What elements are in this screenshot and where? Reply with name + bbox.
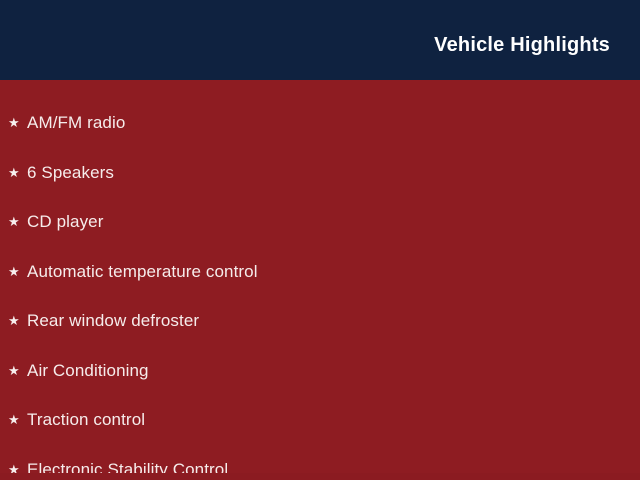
list-item: ★ 6 Speakers (0, 148, 640, 198)
vehicle-highlights-list: ★ AM/FM radio ★ 6 Speakers ★ CD player ★… (0, 98, 640, 480)
list-item-label: AM/FM radio (27, 114, 125, 131)
list-item-label: Rear window defroster (27, 312, 199, 329)
list-item: ★ CD player (0, 197, 640, 247)
star-icon: ★ (8, 314, 27, 327)
list-item-label: CD player (27, 213, 103, 230)
star-icon: ★ (8, 265, 27, 278)
list-item: ★ Air Conditioning (0, 346, 640, 396)
page-title: Vehicle Highlights (434, 35, 610, 55)
list-item-label: Automatic temperature control (27, 263, 258, 280)
highlights-content: ★ AM/FM radio ★ 6 Speakers ★ CD player ★… (0, 80, 640, 480)
list-item-label: Traction control (27, 411, 145, 428)
list-item-label: Air Conditioning (27, 362, 149, 379)
star-icon: ★ (8, 116, 27, 129)
list-item: ★ Traction control (0, 395, 640, 445)
star-icon: ★ (8, 413, 27, 426)
list-item: ★ Automatic temperature control (0, 247, 640, 297)
list-item-label: 6 Speakers (27, 164, 114, 181)
vehicle-highlights-panel: Vehicle Highlights ★ AM/FM radio ★ 6 Spe… (0, 0, 640, 480)
panel-header: Vehicle Highlights (0, 0, 640, 80)
star-icon: ★ (8, 166, 27, 179)
list-item: ★ Rear window defroster (0, 296, 640, 346)
star-icon: ★ (8, 215, 27, 228)
list-item: ★ AM/FM radio (0, 98, 640, 148)
star-icon: ★ (8, 364, 27, 377)
bottom-divider (0, 473, 640, 480)
